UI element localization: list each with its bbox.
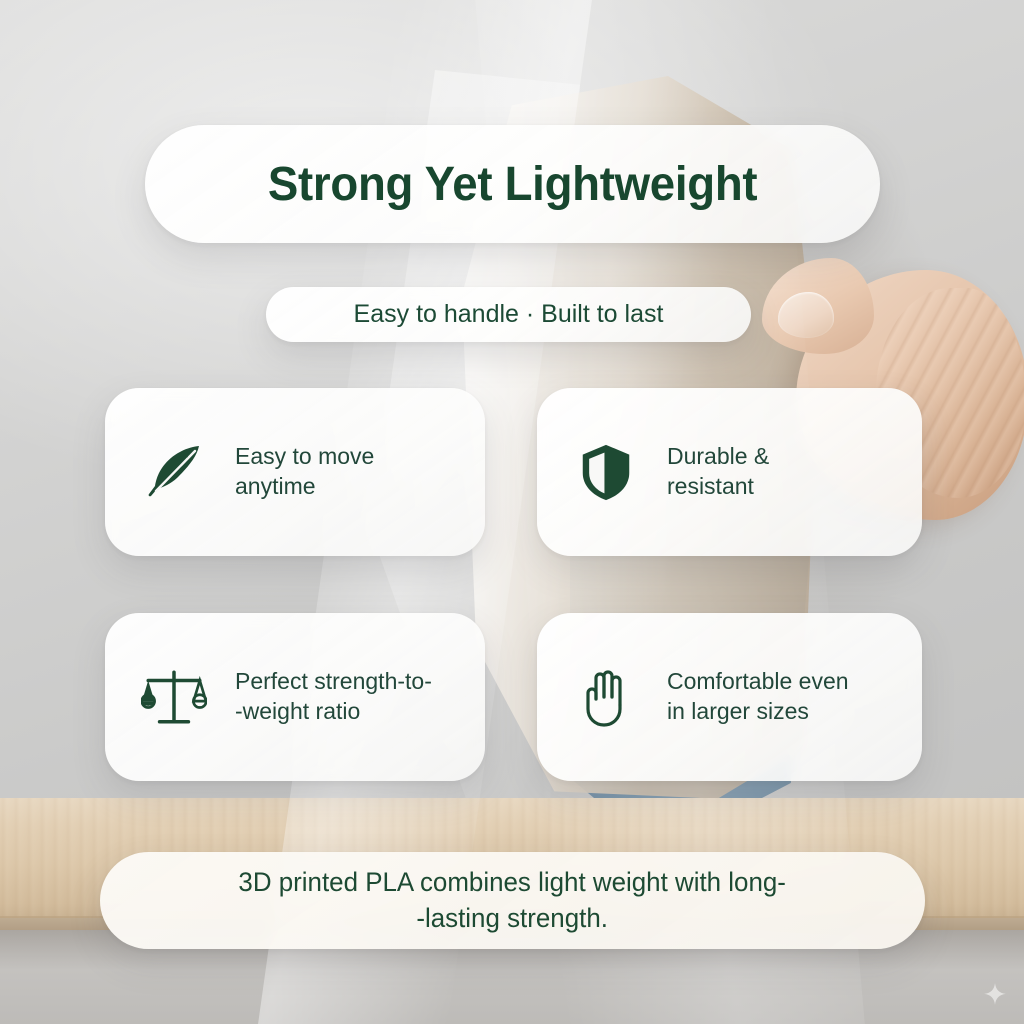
feature-label: Durable & resistant: [667, 442, 769, 502]
page-title: Strong Yet Lightweight: [268, 157, 757, 212]
feature-label: Easy to move anytime: [235, 442, 374, 502]
footer-text: 3D printed PLA combines light weight wit…: [239, 865, 787, 936]
shield-icon: [567, 433, 645, 511]
footer-card: 3D printed PLA combines light weight wit…: [100, 852, 925, 949]
feature-label: Comfortable even in larger sizes: [667, 667, 849, 727]
subtitle-card: Easy to handle · Built to last: [266, 287, 751, 342]
feature-card-strength-to-weight[interactable]: Perfect strength-to- -weight ratio: [105, 613, 485, 781]
infographic-canvas: Strong Yet Lightweight Easy to handle · …: [0, 0, 1024, 1024]
hand-thumb: [762, 258, 874, 354]
feature-label: Perfect strength-to- -weight ratio: [235, 667, 432, 727]
title-card: Strong Yet Lightweight: [145, 125, 880, 243]
sparkle-icon: [982, 982, 1008, 1008]
feather-icon: [135, 433, 213, 511]
open-hand-icon: [567, 658, 645, 736]
feature-card-durable-resistant[interactable]: Durable & resistant: [537, 388, 922, 556]
feature-card-comfortable-sizes[interactable]: Comfortable even in larger sizes: [537, 613, 922, 781]
page-subtitle: Easy to handle · Built to last: [354, 300, 664, 329]
feature-card-easy-to-move[interactable]: Easy to move anytime: [105, 388, 485, 556]
thumb-nail: [778, 292, 834, 338]
balance-scale-icon: [135, 658, 213, 736]
